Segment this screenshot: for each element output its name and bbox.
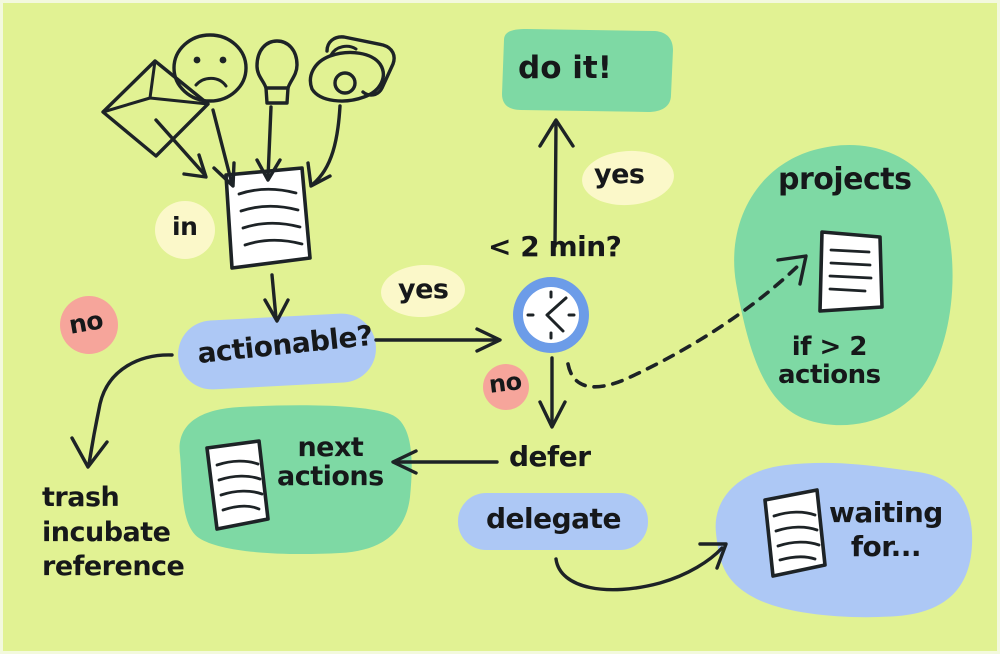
gtd-diagram-canvas: .ink { fill:none; stroke:#1d2326; stroke… bbox=[0, 0, 1000, 654]
do-it-label[interactable]: do it! bbox=[518, 52, 612, 85]
no-left-label: no bbox=[67, 307, 105, 339]
next-actions-label[interactable]: next actions bbox=[277, 434, 384, 491]
delegate-label[interactable]: delegate bbox=[486, 504, 621, 534]
inbox-label: in bbox=[172, 214, 197, 241]
yes-actionable-label: yes bbox=[398, 276, 448, 305]
trash-list-label: trash incubate reference bbox=[42, 481, 184, 585]
yes-two-min-label: yes bbox=[594, 161, 644, 190]
two-min-question-label: < 2 min? bbox=[488, 232, 621, 262]
no-two-min-label: no bbox=[488, 369, 523, 398]
text-labels-layer: do it! yes projects < 2 min? if > 2 acti… bbox=[0, 0, 1000, 654]
waiting-for-label[interactable]: waiting for... bbox=[829, 496, 943, 563]
projects-label[interactable]: projects bbox=[778, 164, 912, 196]
defer-label[interactable]: defer bbox=[509, 442, 591, 472]
actionable-label[interactable]: actionable? bbox=[196, 321, 374, 369]
if-two-actions-label: if > 2 actions bbox=[778, 334, 881, 389]
